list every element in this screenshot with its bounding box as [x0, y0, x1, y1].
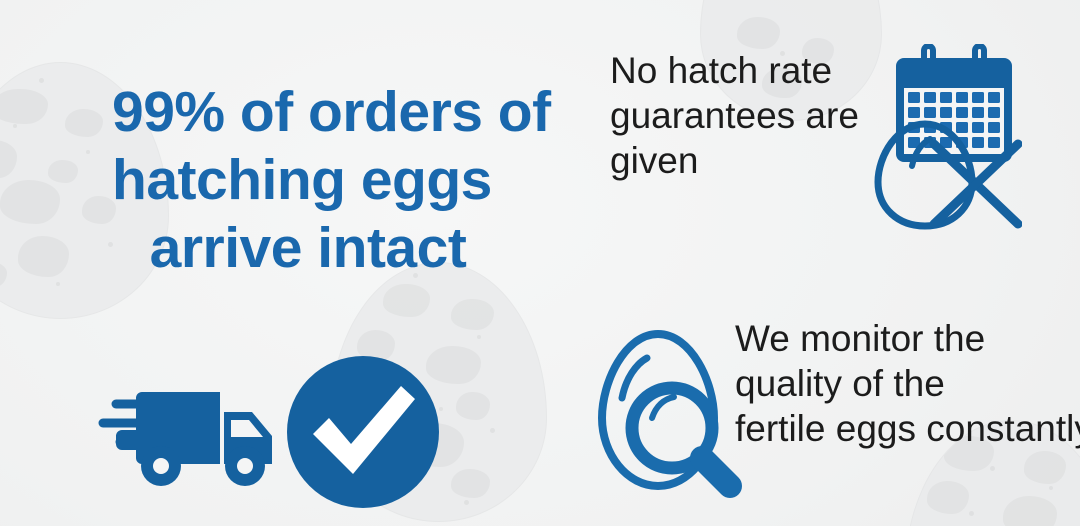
egg-magnifier-icon [596, 326, 746, 498]
headline: 99% of orders of hatching eggs arrive in… [112, 78, 582, 282]
no-guarantee-line-2: guarantees are [610, 93, 900, 138]
monitor-line-2: quality of the [735, 361, 1080, 406]
headline-line-2: hatching eggs [112, 146, 582, 214]
headline-line-1: 99% of orders of [112, 78, 582, 146]
no-guarantee-line-1: No hatch rate [610, 48, 900, 93]
infographic-canvas: 99% of orders of hatching eggs arrive in… [0, 0, 1080, 526]
calendar-egg-x-icon [872, 44, 1022, 234]
no-guarantee-line-3: given [610, 138, 900, 183]
monitor-line-1: We monitor the [735, 316, 1080, 361]
monitor-line-3: fertile eggs constantly [735, 406, 1080, 451]
delivery-truck-icon [98, 378, 288, 490]
headline-line-3: arrive intact [112, 214, 582, 282]
check-circle-icon [283, 352, 443, 512]
no-guarantee-text: No hatch rate guarantees are given [610, 48, 900, 183]
monitor-quality-text: We monitor the quality of the fertile eg… [735, 316, 1080, 451]
